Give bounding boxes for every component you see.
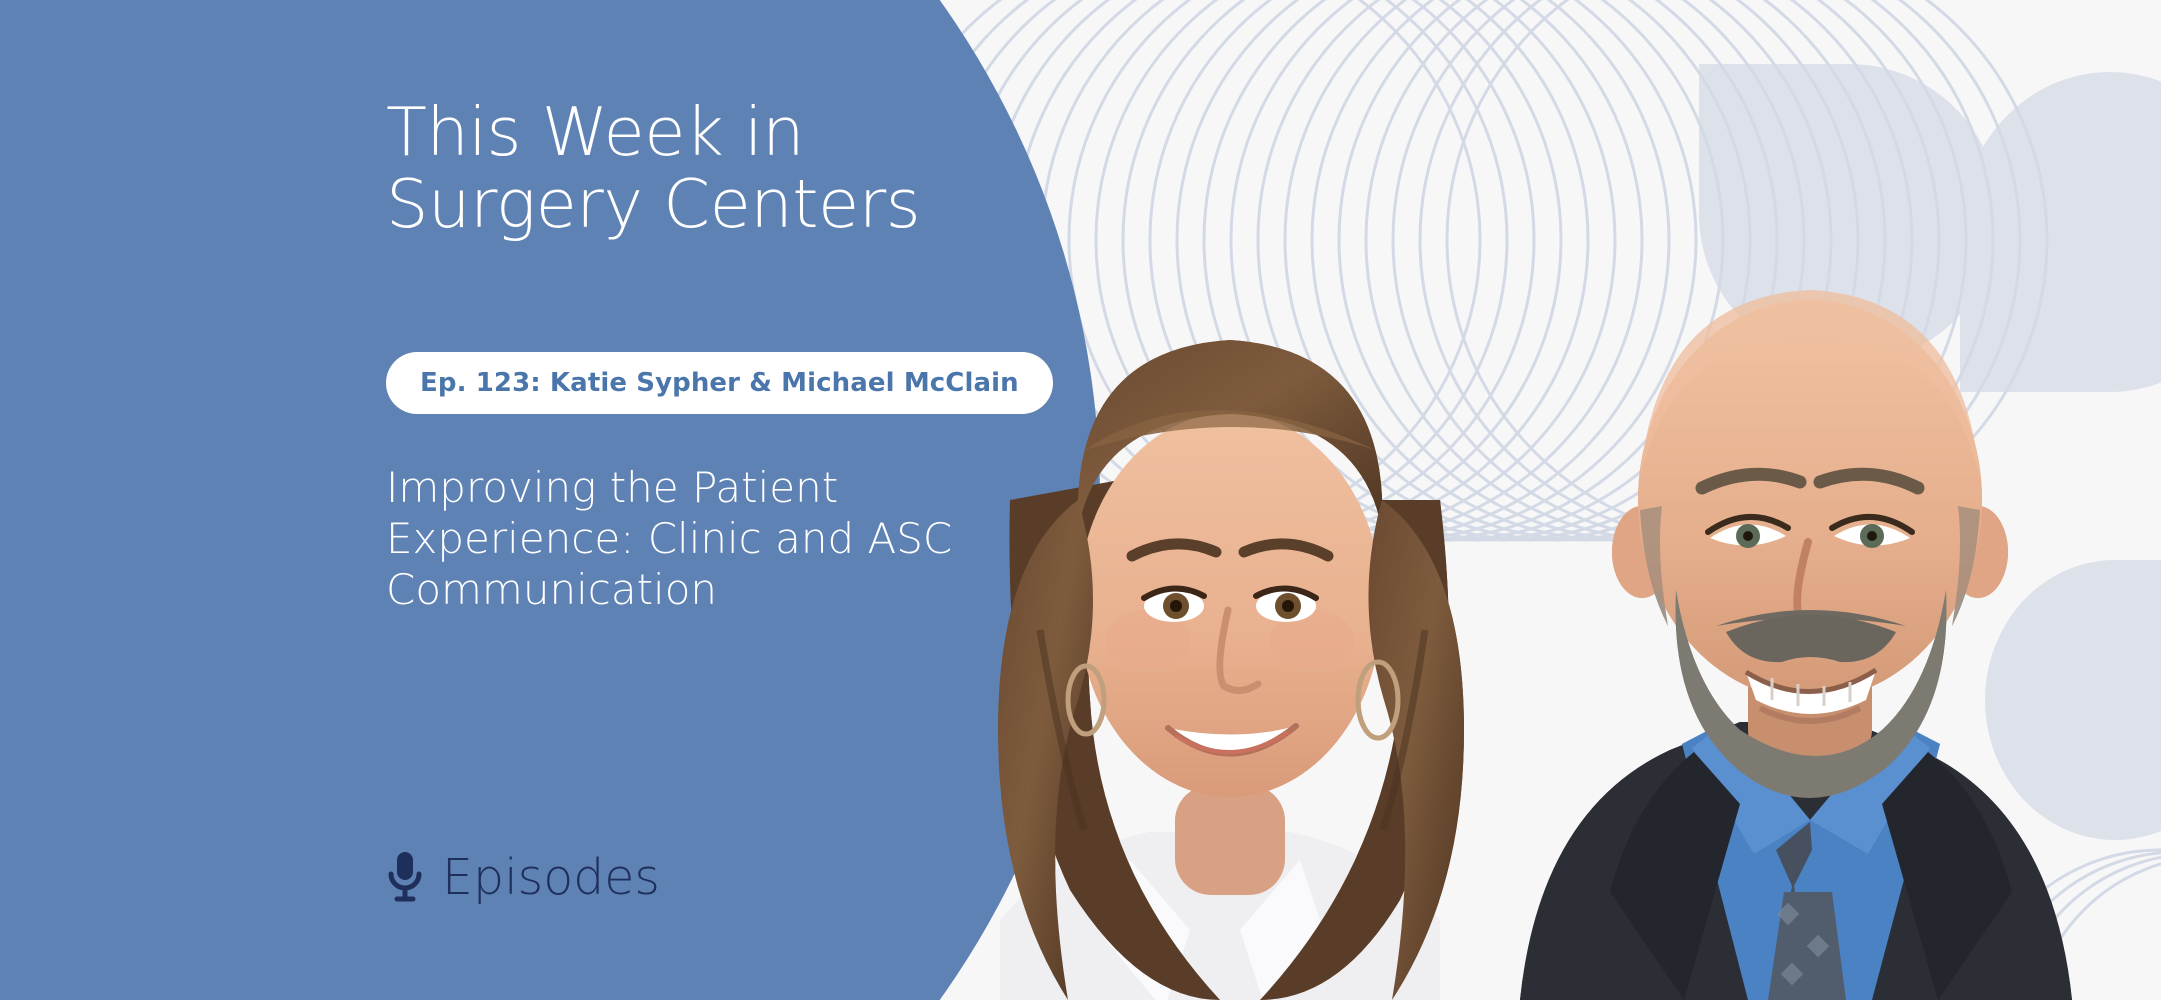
photo-michael-mcclain (1480, 180, 2140, 1000)
microphone-icon (386, 850, 424, 904)
episodes-label: Episodes (442, 853, 660, 902)
episode-title: Improving the Patient Experience: Clinic… (386, 462, 986, 616)
episode-badge-label: Ep. 123: Katie Sypher & Michael McClain (420, 368, 1019, 398)
cover-text-block: This Week in Surgery Centers Ep. 123: Ka… (386, 0, 1086, 1000)
episodes-section-label: Episodes (386, 850, 660, 904)
page-title: This Week in Surgery Centers (386, 96, 1046, 241)
episode-cover-canvas: This Week in Surgery Centers Ep. 123: Ka… (0, 0, 2161, 1000)
episode-badge: Ep. 123: Katie Sypher & Michael McClain (386, 352, 1053, 414)
